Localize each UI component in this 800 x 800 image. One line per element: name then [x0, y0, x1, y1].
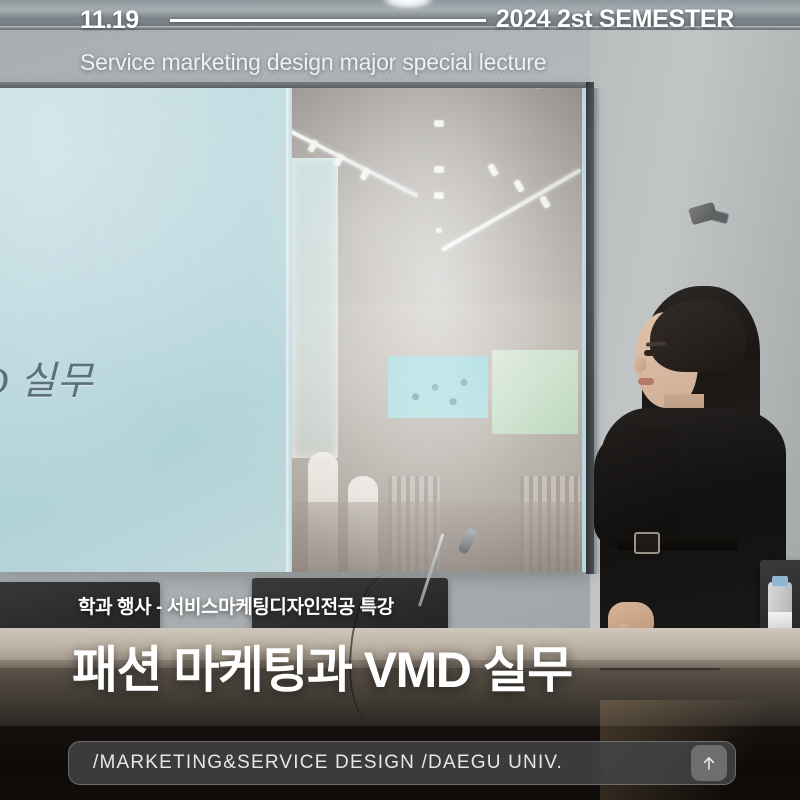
screenshot-root: 가 VMD 실무 대표 박효은	[0, 0, 800, 800]
header-overlay: 11.19 2024 2st SEMESTER	[0, 0, 800, 40]
header-semester: 2024 2st SEMESTER	[496, 5, 734, 34]
header-date: 11.19	[80, 6, 139, 35]
slide-left-panel	[0, 88, 290, 572]
scroll-up-button[interactable]	[691, 745, 727, 781]
water-bottle-cap	[772, 576, 788, 586]
header-lecture-subtitle: Service marketing design major special l…	[80, 49, 546, 76]
screen-right-edge	[586, 82, 594, 574]
projector-screen: 가 VMD 실무 대표 박효은	[0, 88, 590, 572]
presenter-nose	[634, 358, 646, 372]
slide-title-text: 가 VMD 실무	[0, 350, 94, 406]
projection-haze	[292, 88, 582, 572]
presenter-eye	[644, 350, 659, 356]
overlay-title: 패션 마케팅과 VMD 실무	[72, 630, 572, 702]
overlay-kicker: 학과 행사 - 서비스마케팅디자인전공 특강	[78, 592, 394, 619]
arrow-up-icon	[699, 753, 719, 773]
slide-sheen	[0, 88, 290, 572]
bottom-caption-text: /MARKETING&SERVICE DESIGN /DAEGU UNIV.	[93, 752, 691, 774]
presenter-hair-front	[650, 300, 746, 372]
slide-store-photo	[292, 88, 582, 572]
presenter-shoulder	[594, 428, 680, 548]
bottom-caption-bar[interactable]: /MARKETING&SERVICE DESIGN /DAEGU UNIV.	[68, 741, 736, 785]
presenter-lips	[638, 378, 654, 385]
header-divider	[170, 19, 486, 22]
presenter-belt-buckle	[634, 532, 660, 554]
